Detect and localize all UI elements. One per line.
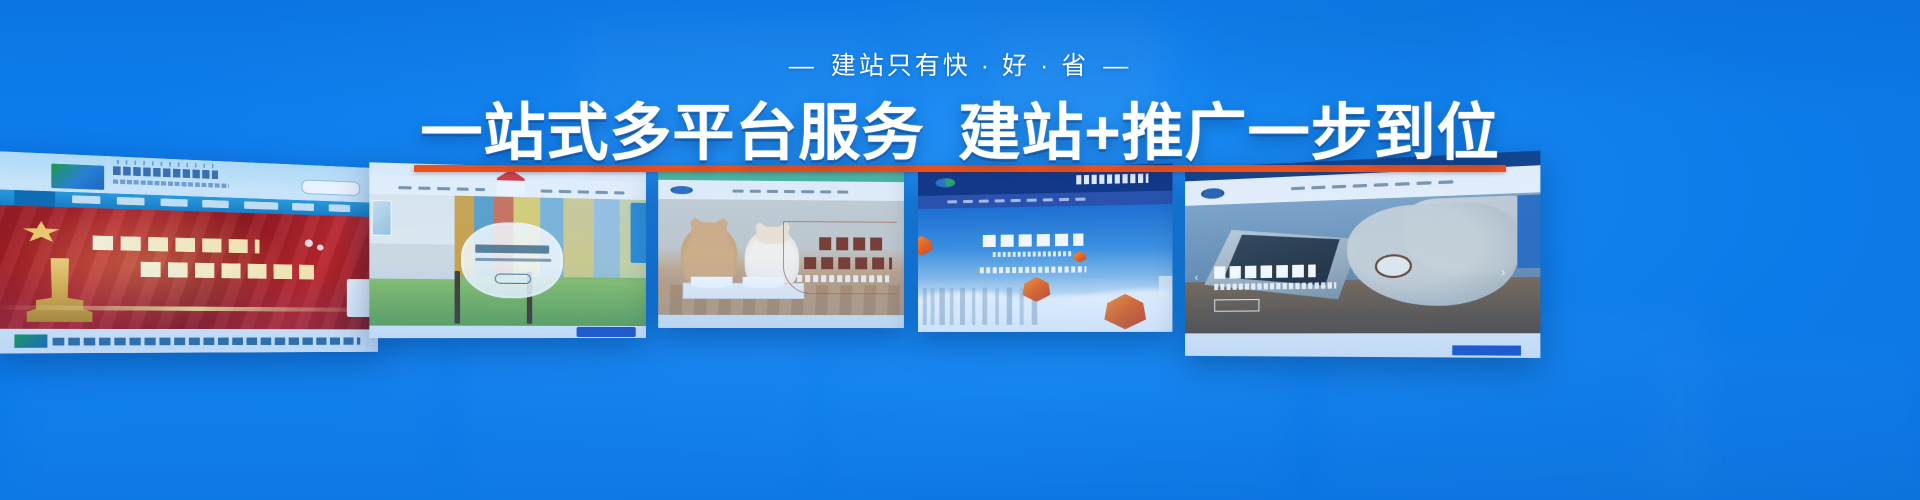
site-nav-items[interactable] — [948, 197, 1086, 203]
site-screenshot: ‹ › — [1185, 151, 1540, 358]
pet-bowl — [743, 277, 785, 288]
building-wall-photo — [369, 194, 455, 290]
cloud-title — [475, 245, 549, 254]
subtitle-dash-left: — — [789, 54, 817, 79]
site-nav-item[interactable] — [244, 202, 277, 211]
site-nav-items[interactable] — [398, 186, 485, 191]
side-dock[interactable] — [1159, 276, 1172, 327]
cloud-cta-button[interactable] — [495, 273, 532, 284]
wristwatch-detail — [1374, 254, 1411, 278]
hero-headline-line1 — [819, 237, 882, 250]
banner-title: 一站式多平台服务建站+推广一步到位 — [420, 101, 1499, 168]
side-dock[interactable] — [1517, 195, 1540, 269]
site-nav-item[interactable] — [117, 197, 145, 206]
footer-logo-icon — [14, 335, 48, 349]
site-nav-items[interactable] — [541, 189, 625, 194]
window-detail — [372, 200, 392, 237]
site-nav-item[interactable] — [72, 196, 100, 205]
tree-illustration — [455, 271, 459, 323]
banner-title-wrap: 一站式多平台服务建站+推广一步到位 — [420, 101, 1499, 168]
hero-headline — [1214, 264, 1315, 279]
site-nav-item[interactable] — [160, 199, 187, 207]
site-screenshot — [658, 169, 904, 328]
site-footer — [658, 315, 904, 328]
site-footer — [0, 329, 378, 353]
banner-title-part1: 一站式多平台服务 — [420, 99, 924, 168]
site-logo-icon — [935, 178, 955, 188]
hero-subtitle-english — [992, 251, 1073, 257]
footer-text — [53, 337, 360, 345]
site-logo-icon — [1201, 187, 1224, 199]
site-hero — [0, 205, 378, 330]
showcase-card-care-site[interactable]: ‹ › — [1185, 151, 1540, 358]
site-screenshot — [0, 151, 378, 354]
banner-headings: —建站只有快 · 好 · 省— 一站式多平台服务建站+推广一步到位 — [0, 0, 1920, 168]
site-phone-number — [1076, 173, 1149, 184]
hero-headline-line2 — [140, 262, 314, 279]
website-showcase: ‹ › — [0, 170, 1920, 500]
site-nav-item[interactable] — [328, 205, 349, 213]
site-hero — [918, 204, 1172, 332]
polygon-decoration — [918, 236, 933, 256]
site-hero — [369, 194, 646, 326]
site-hero: ‹ › — [1185, 192, 1540, 333]
banner-title-part2: 建站+推广一步到位 — [958, 99, 1499, 168]
pet-bowl — [691, 277, 733, 288]
site-nav-item[interactable] — [203, 200, 230, 208]
site-search-input[interactable] — [301, 180, 361, 196]
carousel-prev-icon[interactable]: ‹ — [1195, 272, 1199, 284]
cloud-subtitle — [475, 258, 551, 263]
hero-cloud-callout — [461, 222, 563, 298]
hero-headline — [982, 233, 1083, 247]
hero-cta-button[interactable] — [1214, 299, 1259, 312]
site-hero — [658, 199, 904, 316]
hero-service-tags — [980, 266, 1086, 273]
carousel-next-icon[interactable]: › — [1501, 266, 1505, 279]
site-nav-items[interactable] — [733, 189, 849, 193]
showcase-card-pet-site[interactable] — [658, 169, 904, 328]
site-nav-item-active[interactable] — [14, 190, 56, 206]
hero-english-tagline — [797, 275, 890, 282]
subtitle-text: 建站只有快 · 好 · 省 — [831, 52, 1089, 80]
site-nav-items[interactable] — [1291, 181, 1453, 191]
site-nav[interactable] — [658, 180, 904, 201]
site-screenshot — [369, 162, 646, 338]
subtitle-dash-right: — — [1103, 54, 1131, 79]
side-dock[interactable] — [346, 278, 371, 317]
polygon-decoration — [1073, 251, 1086, 263]
site-nav-item[interactable] — [292, 203, 314, 211]
birds-icon — [300, 237, 329, 251]
showcase-card-exhibition-site[interactable] — [918, 164, 1172, 332]
chat-widget[interactable] — [1452, 345, 1521, 356]
site-screenshot — [918, 164, 1172, 332]
hero-headline-line2 — [804, 257, 892, 270]
chat-widget[interactable] — [576, 327, 635, 337]
hero-banner: —建站只有快 · 好 · 省— 一站式多平台服务建站+推广一步到位 — [0, 0, 1920, 500]
site-logo-icon — [671, 186, 693, 195]
showcase-card-kindergarten-site[interactable] — [369, 162, 646, 338]
showcase-card-party-site[interactable] — [0, 151, 378, 354]
banner-subtitle: —建站只有快 · 好 · 省— — [0, 54, 1920, 79]
side-dock[interactable] — [630, 202, 646, 263]
